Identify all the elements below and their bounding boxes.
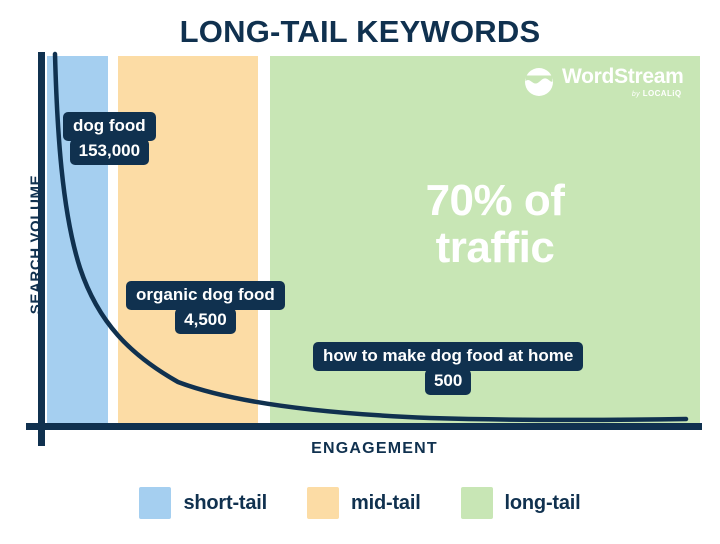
y-axis-label: SEARCH VOLUME bbox=[28, 155, 45, 335]
wordstream-logo-text: WordStream by LOCALiQ bbox=[562, 66, 683, 98]
callout-volume: 153,000 bbox=[70, 139, 149, 165]
wordstream-byline-by: by bbox=[632, 91, 640, 98]
traffic-share-line-2: traffic bbox=[370, 225, 620, 272]
long-tail-keywords-infographic: LONG-TAIL KEYWORDS SEARCH VOLUME ENGAGEM… bbox=[0, 0, 720, 544]
callout-volume-row: 4,500 bbox=[126, 308, 285, 334]
callout-mid-tail: organic dog food 4,500 bbox=[126, 281, 285, 334]
legend-item-short-tail: short-tail bbox=[139, 487, 267, 519]
legend-swatch-mid-tail bbox=[307, 487, 339, 519]
legend-item-long-tail: long-tail bbox=[461, 487, 581, 519]
legend-swatch-long-tail bbox=[461, 487, 493, 519]
legend-swatch-short-tail bbox=[139, 487, 171, 519]
callout-volume-row: 500 bbox=[313, 369, 583, 395]
callout-keyword: organic dog food bbox=[126, 281, 285, 310]
traffic-share-line-1: 70% of bbox=[370, 178, 620, 225]
callout-long-tail: how to make dog food at home 500 bbox=[313, 342, 583, 395]
wordstream-wordmark: WordStream bbox=[562, 66, 683, 87]
wordstream-byline: by LOCALiQ bbox=[632, 90, 682, 98]
callout-volume: 4,500 bbox=[175, 308, 236, 334]
x-axis-label: ENGAGEMENT bbox=[47, 440, 702, 458]
wordstream-parent-brand: LOCALiQ bbox=[643, 89, 682, 98]
legend-label-long-tail: long-tail bbox=[505, 492, 581, 515]
traffic-share-stat: 70% of traffic bbox=[370, 178, 620, 271]
callout-keyword: dog food bbox=[63, 112, 156, 141]
chart-legend: short-tail mid-tail long-tail bbox=[0, 487, 720, 519]
wordstream-logo: WordStream by LOCALiQ bbox=[524, 66, 683, 98]
x-axis-line bbox=[26, 423, 702, 430]
wordstream-wave-icon bbox=[524, 67, 554, 97]
legend-label-short-tail: short-tail bbox=[183, 492, 267, 515]
legend-label-mid-tail: mid-tail bbox=[351, 492, 421, 515]
callout-volume-row: 153,000 bbox=[63, 139, 156, 165]
legend-item-mid-tail: mid-tail bbox=[307, 487, 421, 519]
callout-volume: 500 bbox=[425, 369, 471, 395]
callout-keyword: how to make dog food at home bbox=[313, 342, 583, 371]
callout-short-tail: dog food 153,000 bbox=[63, 112, 156, 165]
